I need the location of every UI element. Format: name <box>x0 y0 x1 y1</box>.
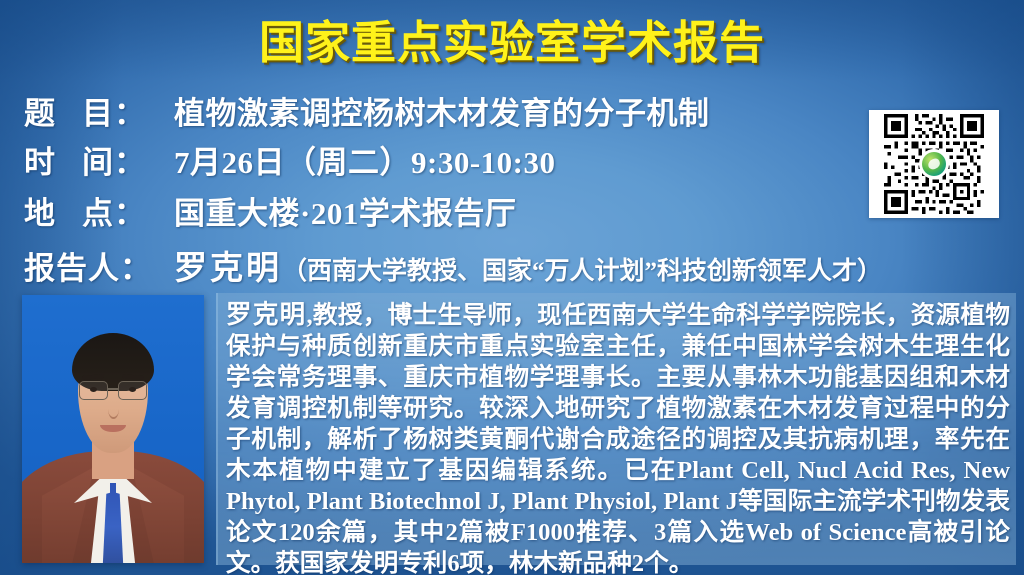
info-row-time: 时间： 7月26日（周二）9:30-10:30 <box>24 137 1004 182</box>
info-value-topic: 植物激素调控杨树木材发育的分子机制 <box>174 88 710 133</box>
info-value-speaker: 罗克明（西南大学教授、国家“万人计划”科技创新领军人才） <box>174 241 882 289</box>
info-label-topic: 题目： <box>24 88 174 133</box>
portrait-glasses-bridge <box>107 388 119 390</box>
portrait-eye-left <box>90 387 97 392</box>
green-leaf-emblem-glyph <box>922 152 946 176</box>
speaker-affiliation: （西南大学教授、国家“万人计划”科技创新领军人才） <box>282 258 882 285</box>
portrait-nose <box>108 399 119 419</box>
info-value-location: 国重大楼·201学术报告厅 <box>174 188 516 233</box>
speaker-name: 罗克明 <box>174 251 282 287</box>
info-row-speaker: 报告人： 罗克明（西南大学教授、国家“万人计划”科技创新领军人才） <box>24 241 1004 289</box>
info-value-time: 7月26日（周二）9:30-10:30 <box>174 137 555 182</box>
info-row-location: 地点： 国重大楼·201学术报告厅 <box>24 188 1004 233</box>
info-label-time: 时间： <box>24 137 174 182</box>
info-label-location: 地点： <box>24 188 174 233</box>
info-row-topic: 题目： 植物激素调控杨树木材发育的分子机制 <box>24 88 1004 133</box>
qr-code-icon[interactable] <box>869 110 999 218</box>
biography-body: ,教授，博士生导师，现任西南大学生命科学学院院长，资源植物保护与种质创新重庆市重… <box>226 302 1010 575</box>
poster-title: 国家重点实验室学术报告 <box>0 6 1024 71</box>
speaker-portrait-photo <box>22 295 204 563</box>
speaker-biography-panel: 罗克明,教授，博士生导师，现任西南大学生命科学学院院长，资源植物保护与种质创新重… <box>216 293 1016 565</box>
green-leaf-emblem-icon <box>919 149 949 179</box>
qr-code-canvas <box>873 114 995 214</box>
poster-title-text: 国家重点实验室学术报告 <box>259 6 765 71</box>
portrait-eye-right <box>129 387 136 392</box>
info-block: 题目： 植物激素调控杨树木材发育的分子机制 时间： 7月26日（周二）9:30-… <box>24 88 1004 292</box>
glasses-icon <box>78 381 148 399</box>
info-label-speaker: 报告人： <box>24 243 174 288</box>
biography-lead-name: 罗克明 <box>226 300 306 329</box>
speaker-biography-text: 罗克明,教授，博士生导师，现任西南大学生命科学学院院长，资源植物保护与种质创新重… <box>226 299 1010 575</box>
seminar-poster: 国家重点实验室学术报告 题目： 植物激素调控杨树木材发育的分子机制 时间： 7月… <box>0 0 1024 575</box>
